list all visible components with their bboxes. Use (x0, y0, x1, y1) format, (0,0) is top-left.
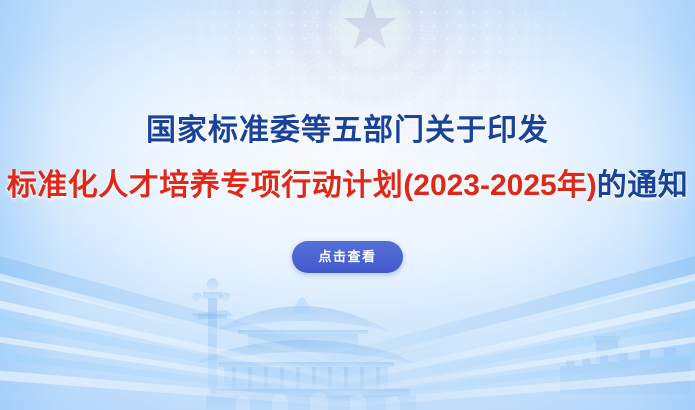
background-side-vignette (0, 0, 695, 410)
view-details-button[interactable]: 点击查看 (292, 241, 402, 273)
cta-container: 点击查看 (0, 241, 695, 273)
notice-banner: 国家标准委等五部门关于印发 标准化人才培养专项行动计划(2023-2025年)的… (0, 0, 695, 410)
